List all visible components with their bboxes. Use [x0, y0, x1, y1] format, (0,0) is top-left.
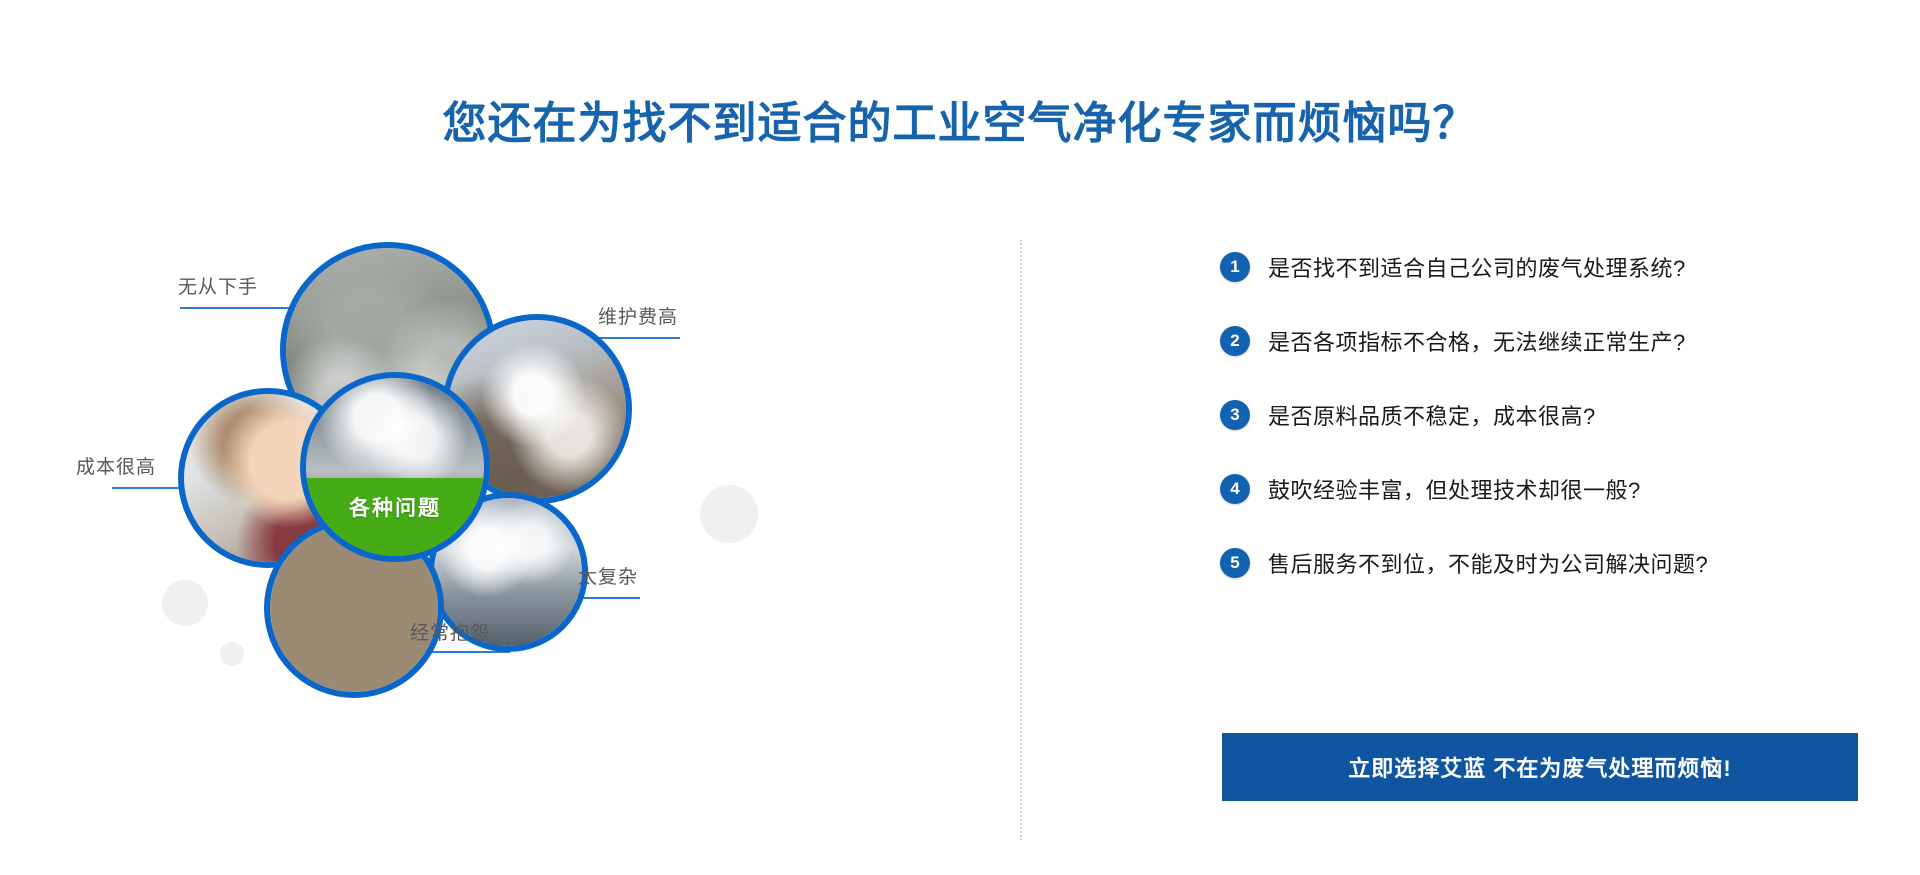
callout-label-top-right: 维护费高: [598, 302, 678, 329]
cta-banner-text: 立即选择艾蓝 不在为废气处理而烦恼!: [1348, 751, 1731, 783]
problem-flower-diagram: 各种问题 无从下手 维护费高 成本很高 太复杂 经常抱怨: [40, 230, 980, 850]
list-item: 5 售后服务不到位，不能及时为公司解决问题?: [1220, 526, 1860, 600]
list-item-text-1: 是否找不到适合自己公司的废气处理系统?: [1268, 251, 1686, 283]
list-item: 3 是否原料品质不稳定，成本很高?: [1220, 378, 1860, 452]
list-item-text-5: 售后服务不到位，不能及时为公司解决问题?: [1268, 547, 1708, 579]
list-item-text-3: 是否原料品质不稳定，成本很高?: [1268, 399, 1596, 431]
list-item: 1 是否找不到适合自己公司的废气处理系统?: [1220, 230, 1860, 304]
list-item-text-4: 鼓吹经验丰富，但处理技术却很一般?: [1268, 473, 1641, 505]
callout-label-top-left: 无从下手: [178, 272, 258, 299]
list-item-badge-1: 1: [1220, 252, 1250, 282]
list-item: 4 鼓吹经验丰富，但处理技术却很一般?: [1220, 452, 1860, 526]
problem-list: 1 是否找不到适合自己公司的废气处理系统? 2 是否各项指标不合格，无法继续正常…: [1220, 230, 1860, 600]
center-label-text: 各种问题: [349, 492, 441, 522]
cta-banner-button[interactable]: 立即选择艾蓝 不在为废气处理而烦恼!: [1222, 733, 1858, 801]
callout-label-left: 成本很高: [76, 452, 156, 479]
list-item-badge-2: 2: [1220, 326, 1250, 356]
callout-label-bottom-right: 太复杂: [578, 562, 638, 589]
list-item-badge-3: 3: [1220, 400, 1250, 430]
list-item-badge-4: 4: [1220, 474, 1250, 504]
list-item-text-2: 是否各项指标不合格，无法继续正常生产?: [1268, 325, 1686, 357]
vertical-dotted-divider: [1020, 240, 1023, 840]
bubble-center-smokestacks: 各种问题: [300, 372, 490, 562]
center-label-band: 各种问题: [306, 478, 484, 556]
page-title: 您还在为找不到适合的工业空气净化专家而烦恼吗？: [0, 96, 1920, 152]
list-item-badge-5: 5: [1220, 548, 1250, 578]
callout-label-bottom-left: 经常抱怨: [410, 618, 490, 645]
list-item: 2 是否各项指标不合格，无法继续正常生产?: [1220, 304, 1860, 378]
